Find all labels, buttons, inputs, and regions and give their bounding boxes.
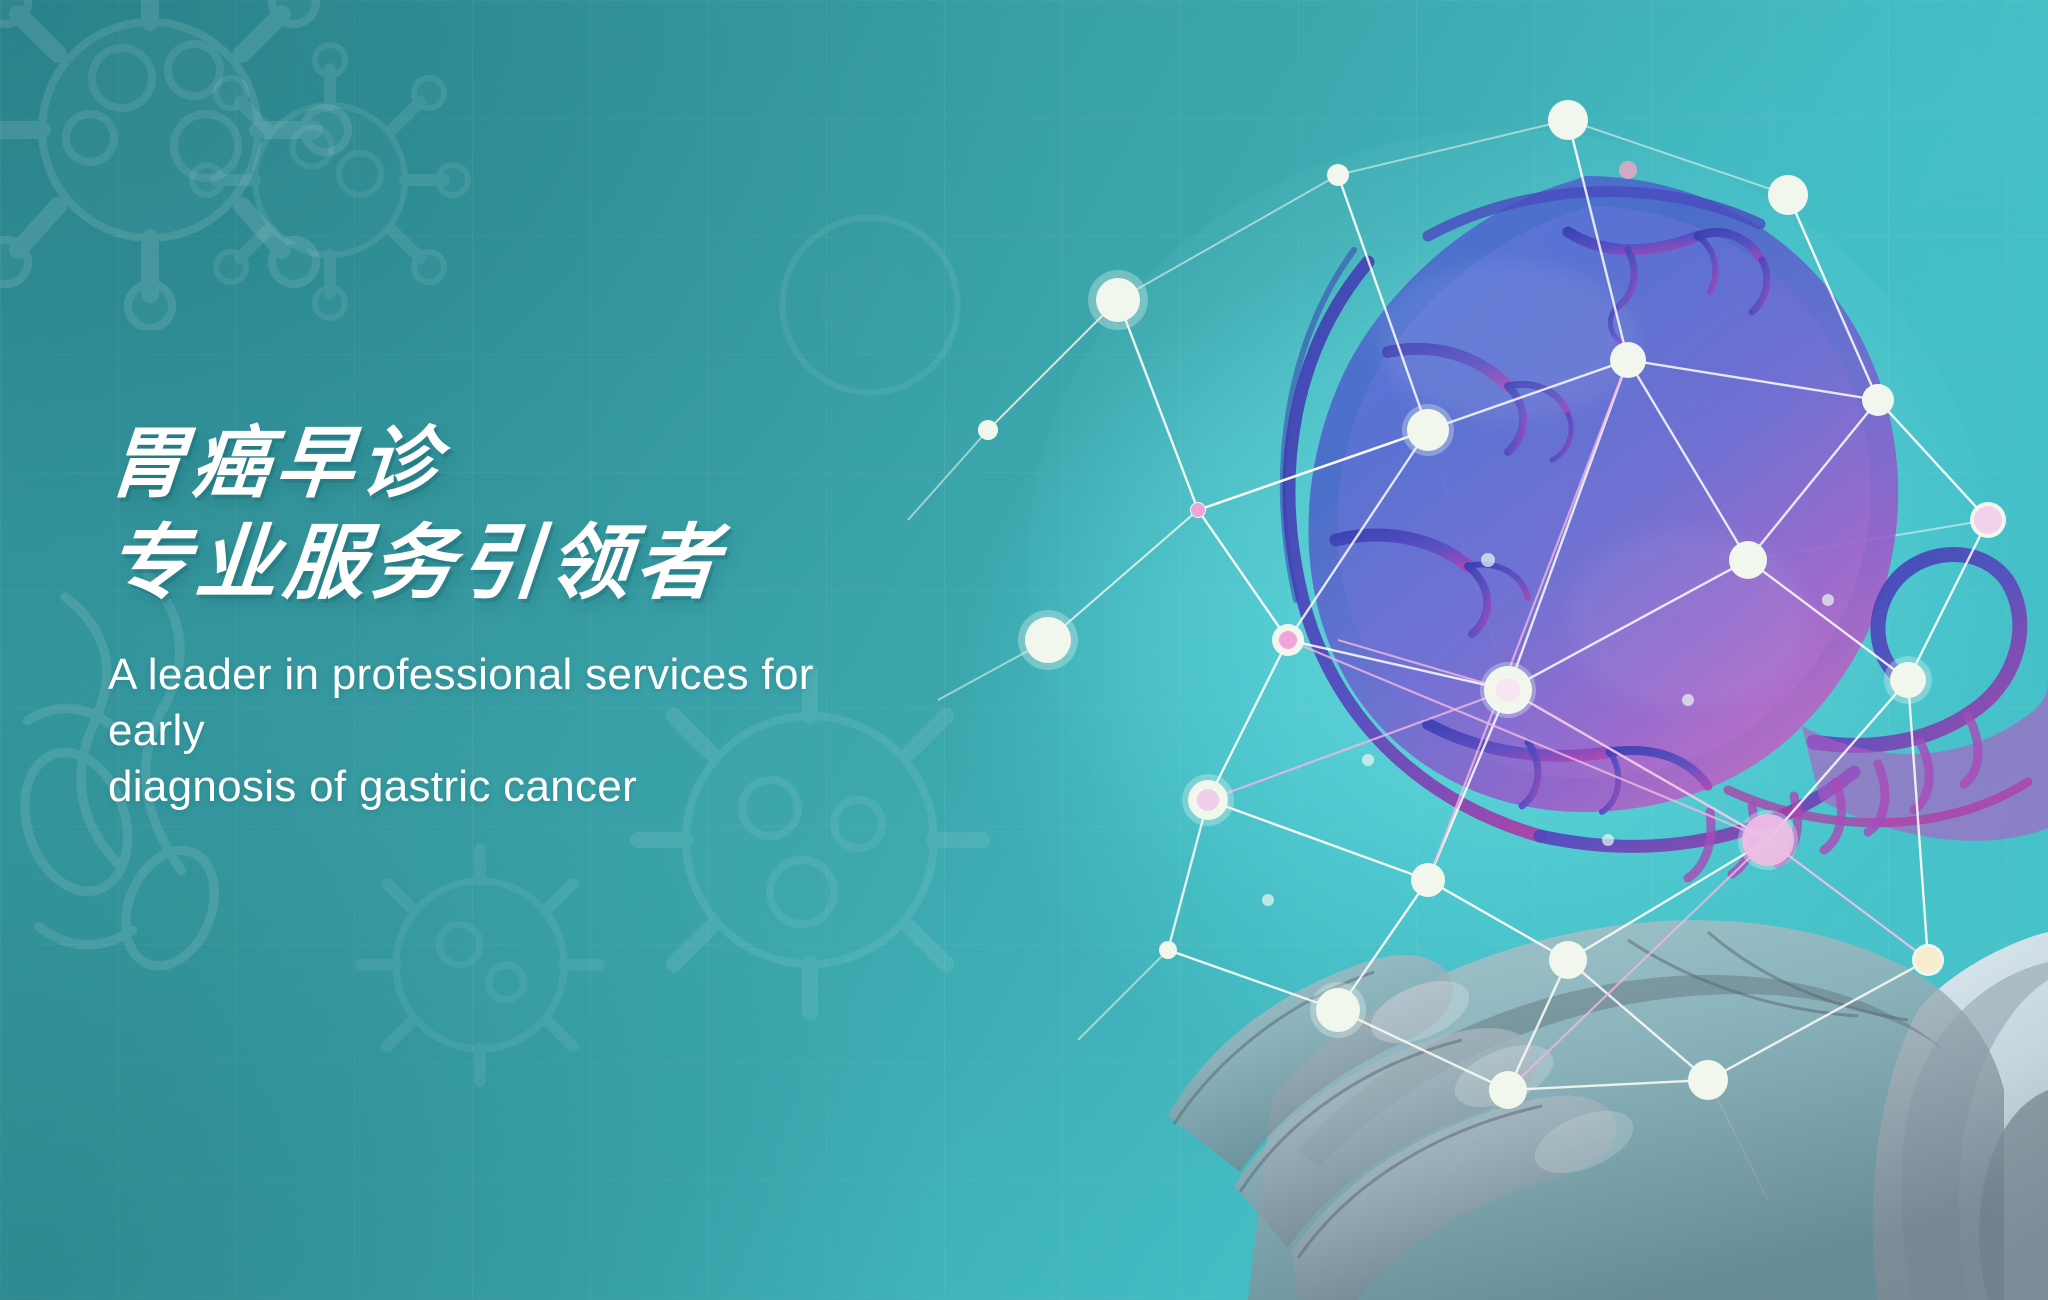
subtitle: A leader in professional services for ea…	[108, 647, 898, 816]
promo-banner: 胃癌早诊 专业服务引领者 A leader in professional se…	[0, 0, 2048, 1300]
subtitle-line-1: A leader in professional services for ea…	[108, 647, 898, 760]
headline-line-2: 专业服务引领者	[104, 516, 1112, 613]
banner-copy: 胃癌早诊 专业服务引领者 A leader in professional se…	[108, 418, 1108, 816]
headline-line-1: 胃癌早诊	[104, 418, 1112, 510]
subtitle-line-2: diagnosis of gastric cancer	[108, 759, 898, 815]
